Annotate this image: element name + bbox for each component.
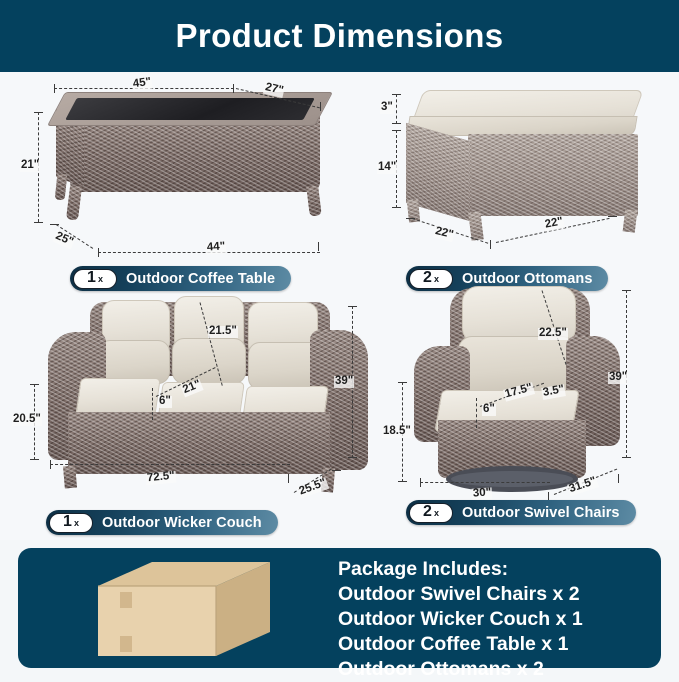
tick bbox=[398, 382, 407, 383]
package-item: Outdoor Coffee Table x 1 bbox=[338, 632, 583, 657]
chair-swivel-base bbox=[446, 466, 578, 492]
tick bbox=[618, 474, 619, 483]
tick bbox=[54, 84, 55, 93]
tick bbox=[50, 224, 59, 225]
dim-label-chair-overall-width: 30" bbox=[472, 487, 493, 500]
cardboard-box-icon bbox=[90, 560, 270, 658]
tick bbox=[318, 242, 319, 251]
qty-value: 2 bbox=[423, 504, 432, 520]
wicker-couch-illustration: 21.5" 21" 6" 20.5" 39" 72.5" bbox=[12, 288, 362, 504]
ottoman-leg-front-right bbox=[623, 209, 638, 232]
ottoman-illustration: 3" 14" 22" 22" bbox=[372, 76, 672, 257]
package-item: Outdoor Swivel Chairs x 2 bbox=[338, 582, 583, 607]
tick bbox=[608, 216, 617, 217]
tick bbox=[420, 478, 421, 487]
coffee-table-top-frame bbox=[47, 92, 333, 126]
product-panels: 45" 27" 21" 25" 44" 1 x Out bbox=[0, 72, 679, 540]
product-panel-wicker-couch: 21.5" 21" 6" 20.5" 39" 72.5" bbox=[12, 288, 362, 538]
product-label-pill-swivel-chairs[interactable]: 2 x Outdoor Swivel Chairs bbox=[406, 500, 636, 525]
tick bbox=[622, 290, 631, 291]
couch-seat-cushion-left bbox=[75, 378, 160, 416]
couch-lumbar-cushion-center bbox=[172, 338, 246, 384]
tick bbox=[332, 470, 341, 471]
tick bbox=[392, 94, 401, 95]
dim-label-couch-cushion-thickness: 6" bbox=[158, 396, 172, 408]
coffee-table-leg-front-right bbox=[306, 185, 322, 216]
tick bbox=[288, 474, 289, 483]
qty-badge-coffee-table: 1 x bbox=[73, 269, 117, 289]
tick bbox=[34, 222, 43, 223]
dim-label-couch-overall-height: 39" bbox=[334, 376, 354, 388]
page-header: Product Dimensions bbox=[0, 0, 679, 72]
tick bbox=[348, 457, 357, 458]
dim-label-chair-arm-height: 18.5" bbox=[382, 426, 412, 438]
package-item: Outdoor Ottomans x 2 bbox=[338, 657, 583, 682]
dim-line-couch-overall-width bbox=[50, 464, 290, 465]
swivel-chair-illustration: 22.5" 17.5" 3.5" 6" 18.5" 39" 30" bbox=[380, 278, 672, 504]
coffee-table-illustration: 45" 27" 21" 25" 44" bbox=[12, 76, 352, 257]
qty-multiplier: x bbox=[98, 275, 103, 284]
qty-badge-wicker-couch: 1 x bbox=[49, 513, 93, 533]
product-label-swivel-chairs: Outdoor Swivel Chairs bbox=[462, 505, 620, 521]
tick bbox=[30, 459, 39, 460]
dim-label-table-base-depth: 25" bbox=[53, 230, 76, 249]
tick bbox=[50, 460, 51, 469]
tick bbox=[98, 248, 99, 257]
product-label-pill-wicker-couch[interactable]: 1 x Outdoor Wicker Couch bbox=[46, 510, 278, 535]
tick bbox=[34, 112, 43, 113]
package-includes-text: Package Includes: Outdoor Swivel Chairs … bbox=[338, 557, 583, 682]
coffee-table-leg-back-left bbox=[55, 174, 68, 201]
tick bbox=[490, 240, 491, 249]
qty-badge-swivel-chairs: 2 x bbox=[409, 503, 453, 523]
dim-label-couch-arm-height: 20.5" bbox=[12, 414, 42, 426]
product-label-wicker-couch: Outdoor Wicker Couch bbox=[102, 515, 262, 531]
dim-label-chair-back-height: 22.5" bbox=[538, 328, 568, 340]
dim-label-ottoman-cushion-height: 3" bbox=[380, 102, 394, 114]
dim-label-table-height: 21" bbox=[20, 160, 40, 172]
page-title: Product Dimensions bbox=[175, 17, 503, 55]
dim-label-couch-back-height: 21.5" bbox=[208, 326, 238, 338]
dim-label-chair-overall-height: 39" bbox=[608, 372, 628, 384]
dim-label-table-base-width: 44" bbox=[206, 241, 227, 254]
product-panel-swivel-chairs: 22.5" 17.5" 3.5" 6" 18.5" 39" 30" bbox=[380, 278, 672, 538]
dim-line-chair-overall-width bbox=[420, 482, 550, 483]
qty-multiplier: x bbox=[434, 509, 439, 518]
tick bbox=[348, 306, 357, 307]
couch-leg-left bbox=[63, 466, 77, 489]
dim-label-couch-overall-depth: 25.5" bbox=[297, 477, 329, 498]
dim-label-ottoman-body-height: 14" bbox=[377, 162, 397, 174]
product-panel-ottomans: 3" 14" 22" 22" 2 x Outdoor Ottomans bbox=[372, 76, 672, 291]
dim-label-ottoman-width: 22" bbox=[433, 226, 455, 242]
dim-label-chair-cushion-thickness: 6" bbox=[482, 404, 496, 416]
tick bbox=[406, 218, 415, 219]
coffee-table-glass bbox=[65, 98, 315, 120]
dim-line-couch-cushion-thickness bbox=[152, 388, 153, 420]
tick bbox=[233, 84, 234, 93]
dim-line-chair-cushion-thickness bbox=[476, 398, 477, 428]
coffee-table-leg-front-left bbox=[66, 185, 82, 220]
tick bbox=[398, 481, 407, 482]
dim-line-ottoman-cushion-height bbox=[396, 94, 397, 124]
tick bbox=[392, 123, 401, 124]
tick bbox=[392, 207, 401, 208]
qty-value: 1 bbox=[63, 514, 72, 530]
package-item: Outdoor Wicker Couch x 1 bbox=[338, 607, 583, 632]
dim-label-ottoman-depth: 22" bbox=[543, 216, 565, 231]
product-panel-coffee-table: 45" 27" 21" 25" 44" 1 x Out bbox=[12, 76, 352, 291]
tick bbox=[392, 130, 401, 131]
product-label-coffee-table: Outdoor Coffee Table bbox=[126, 271, 275, 287]
qty-value: 1 bbox=[87, 270, 96, 286]
tick bbox=[30, 384, 39, 385]
dim-label-couch-overall-width: 72.5" bbox=[146, 471, 177, 485]
ottoman-front-panel bbox=[468, 134, 638, 216]
package-includes-panel: Package Includes: Outdoor Swivel Chairs … bbox=[18, 548, 661, 668]
tick bbox=[622, 457, 631, 458]
package-includes-heading: Package Includes: bbox=[338, 557, 583, 582]
tick bbox=[320, 102, 321, 111]
qty-multiplier: x bbox=[74, 519, 79, 528]
